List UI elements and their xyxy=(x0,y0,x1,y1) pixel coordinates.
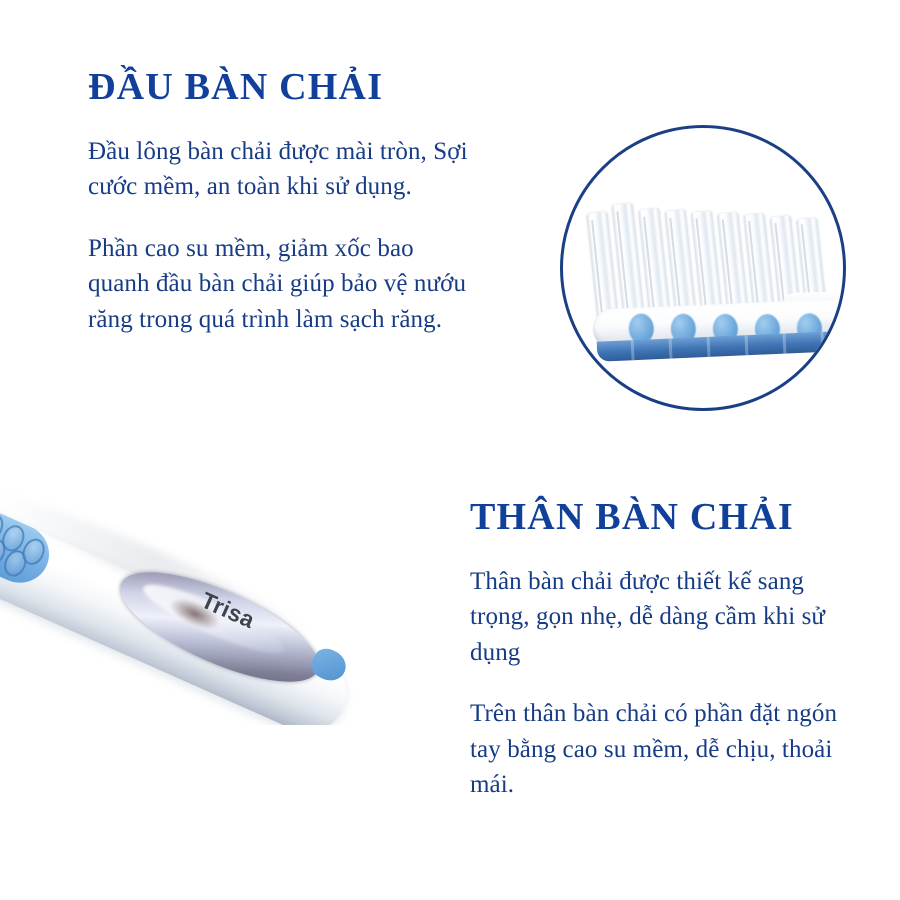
toothbrush-head-photo-inner xyxy=(563,128,843,408)
product-infographic: ĐẦU BÀN CHẢI Đầu lông bàn chải được mài … xyxy=(0,0,900,900)
section-brush-head-heading: ĐẦU BÀN CHẢI xyxy=(88,68,468,108)
section-brush-head-paragraph-2: Phần cao su mềm, giảm xốc bao quanh đầu … xyxy=(88,231,468,338)
toothbrush-head-photo xyxy=(560,125,846,411)
section-brush-body-heading: THÂN BÀN CHẢI xyxy=(470,498,850,538)
bristle-field xyxy=(563,158,843,375)
section-brush-body-text: THÂN BÀN CHẢI Thân bàn chải được thiết k… xyxy=(470,498,850,803)
section-brush-head-paragraph-1: Đầu lông bàn chải được mài tròn, Sợi cướ… xyxy=(88,134,468,205)
toothbrush-handle-photo: Trisa xyxy=(0,455,430,725)
section-brush-head-text: ĐẦU BÀN CHẢI Đầu lông bàn chải được mài … xyxy=(88,68,468,337)
section-brush-body-paragraph-2: Trên thân bàn chải có phần đặt ngón tay … xyxy=(470,696,850,803)
section-brush-body-paragraph-1: Thân bàn chải được thiết kế sang trọng, … xyxy=(470,564,850,671)
